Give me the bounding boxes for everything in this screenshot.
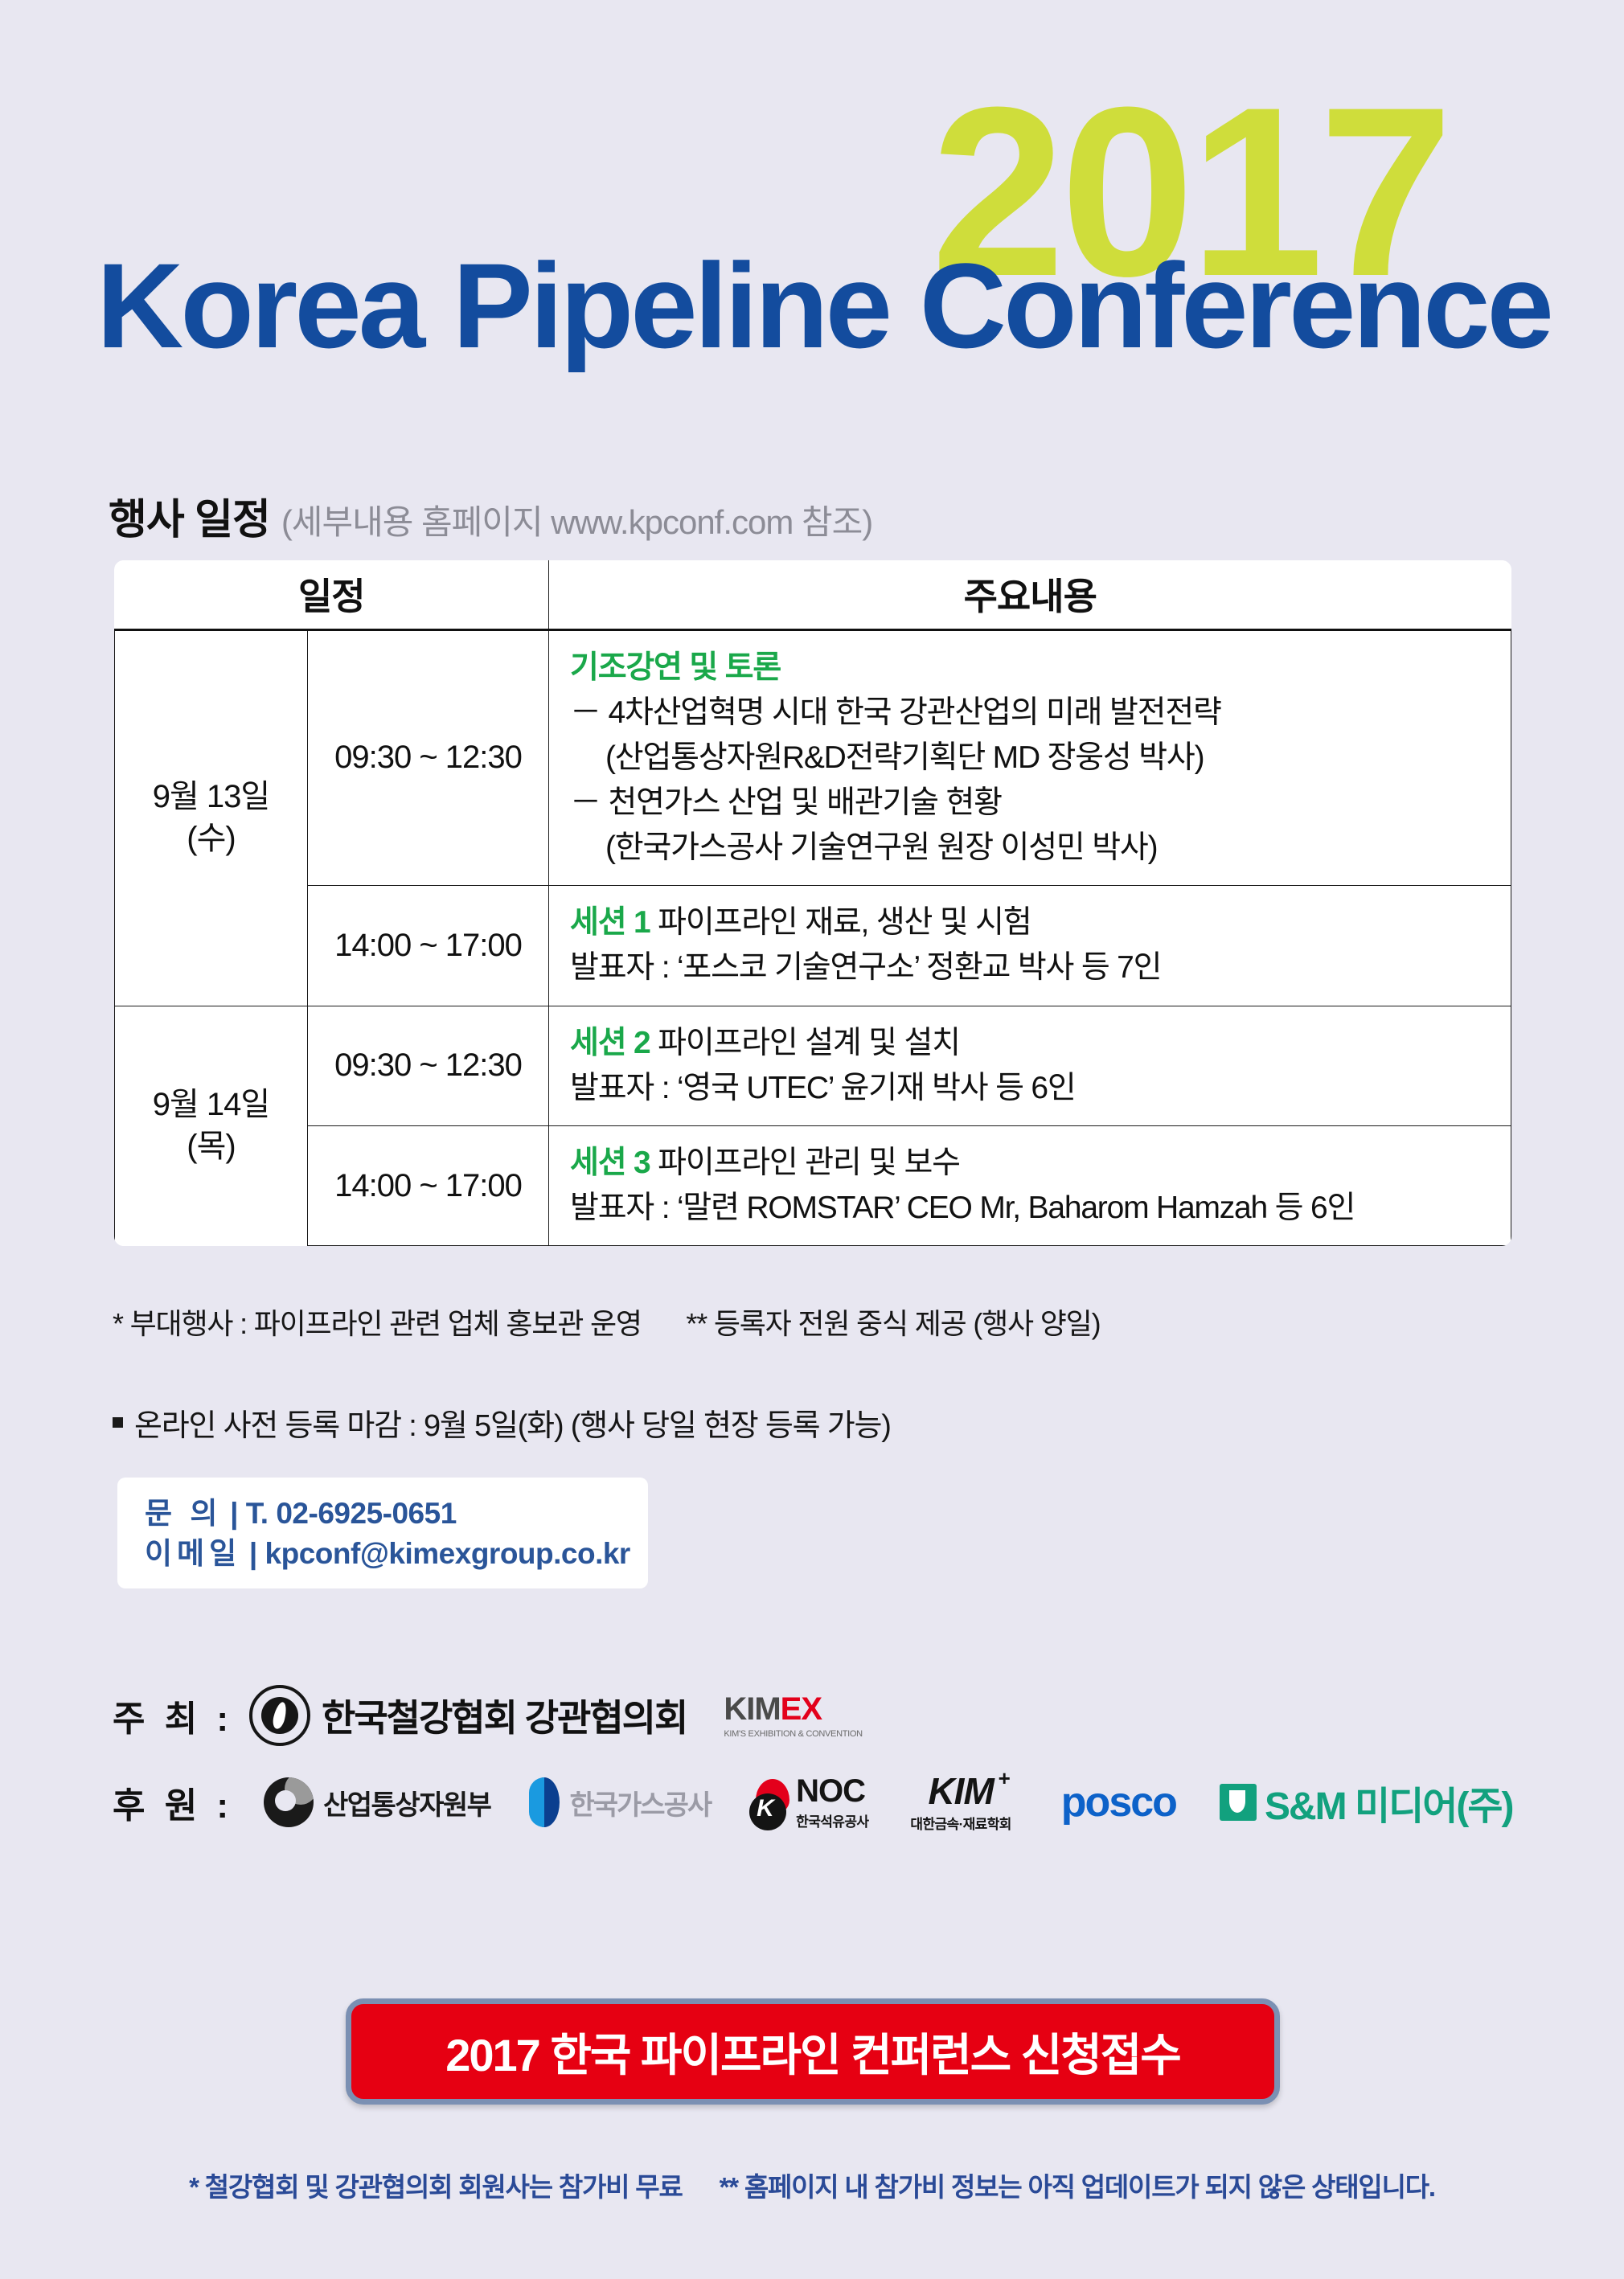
footer-note-1: * 철강협회 및 강관협의회 회원사는 참가비 무료	[189, 2172, 683, 2202]
session-3-presenter: 발표자 : ‘말련 ROMSTAR’ CEO Mr, Baharom Hamza…	[570, 1186, 1511, 1231]
keynote-label: 기조강연 및 토론	[570, 646, 1511, 691]
column-header-schedule: 일정	[115, 560, 549, 629]
contact-phone-value: T. 02-6925-0651	[246, 1497, 457, 1530]
footer-notes: * 철강협회 및 강관협의회 회원사는 참가비 무료 ** 홈페이지 내 참가비…	[0, 2166, 1624, 2204]
day-cell-14: 9월 14일 (목)	[115, 1006, 308, 1246]
host-name: 한국철강협회 강관협의회	[322, 1689, 687, 1742]
note-1: * 부대행사 : 파이프라인 관련 업체 홍보관 운영	[113, 1307, 642, 1340]
page-title: Korea Pipeline Conference	[96, 245, 1551, 366]
organizer-sponsor-block: 주 최 : 한국철강협회 강관협의회 KIMEX KIM'S EXHIBITIO…	[113, 1672, 1560, 1846]
contact-sep-1: |	[230, 1497, 238, 1530]
session-1-title: 파이프라인 재료, 생산 및 시험	[658, 905, 1031, 940]
snm-mark-icon	[1220, 1784, 1257, 1821]
schedule-heading-main: 행사 일정	[109, 486, 270, 546]
contact-sep-2: |	[249, 1537, 257, 1570]
kimex-kim: KIM	[724, 1691, 780, 1727]
kogas-mark-icon	[529, 1777, 560, 1827]
sponsor-line: 후 원 : 산업통상자원부 한국가스공사 K NOC 한국석유공사	[113, 1759, 1560, 1846]
session-2-line: 세션 2 파이프라인 설계 및 설치	[570, 1021, 1511, 1066]
column-header-content: 주요내용	[549, 560, 1511, 629]
note-2: ** 등록자 전원 중식 제공 (행사 양일)	[686, 1307, 1100, 1340]
ksa-logo: 한국철강협회 강관협의회	[249, 1685, 687, 1746]
table-header-row: 일정 주요내용	[115, 560, 1511, 629]
keynote-item-2-detail: (한국가스공사 기술연구원 원장 이성민 박사)	[570, 826, 1511, 871]
table-row: 9월 13일 (수) 09:30 ~ 12:30 기조강연 및 토론 － 4차산…	[115, 629, 1511, 886]
keynote-item-1: － 4차산업혁명 시대 한국 강관산업의 미래 발전전략	[570, 691, 1511, 736]
content-cell-3: 세션 2 파이프라인 설계 및 설치 발표자 : ‘영국 UTEC’ 윤기재 박…	[549, 1006, 1511, 1125]
content-cell-2: 세션 1 파이프라인 재료, 생산 및 시험 발표자 : ‘포스코 기술연구소’…	[549, 886, 1511, 1006]
day-weekday-14: (목)	[187, 1129, 235, 1164]
kimex-logo: KIMEX KIM'S EXHIBITION & CONVENTION	[724, 1693, 862, 1739]
snm-name: S&M 미디어(주)	[1265, 1774, 1513, 1830]
kim-logo: KIM+ 대한금속·재료학회	[910, 1773, 1011, 1833]
day-cell-13: 9월 13일 (수)	[115, 629, 308, 1006]
register-button-label: 2017 한국 파이프라인 컨퍼런스 신청접수	[445, 2019, 1180, 2084]
table-row: 9월 14일 (목) 09:30 ~ 12:30 세션 2 파이프라인 설계 및…	[115, 1006, 1511, 1125]
knoc-text: NOC 한국석유공사	[796, 1775, 868, 1830]
knoc-k-letter: K	[757, 1797, 774, 1821]
knoc-mark-icon: K	[749, 1779, 793, 1830]
time-cell-3: 09:30 ~ 12:30	[308, 1006, 549, 1125]
contact-phone-label: 문 의	[145, 1497, 222, 1530]
schedule-heading-sub: (세부내용 홈페이지 www.kpconf.com 참조)	[281, 495, 872, 544]
content-cell-4: 세션 3 파이프라인 관리 및 보수 발표자 : ‘말련 ROMSTAR’ CE…	[549, 1125, 1511, 1245]
contact-phone-line: 문 의 | T. 02-6925-0651	[145, 1494, 648, 1534]
schedule-table: 일정 주요내용 9월 13일 (수) 09:30 ~ 12:30 기조강연 및 …	[114, 560, 1511, 1246]
keynote-item-1-detail: (산업통상자원R&D전략기획단 MD 장웅성 박사)	[570, 736, 1511, 781]
kim-plus-icon: +	[999, 1768, 1010, 1789]
posco-logo: posco	[1061, 1781, 1176, 1823]
session-1-label: 세션 1	[570, 905, 650, 940]
sponsor-label: 후 원 :	[113, 1777, 249, 1828]
kim-subname: 대한금속·재료학회	[910, 1813, 1011, 1833]
schedule-heading: 행사 일정 (세부내용 홈페이지 www.kpconf.com 참조)	[109, 486, 872, 546]
kimex-ex: EX	[781, 1691, 822, 1727]
taegeuk-icon	[264, 1777, 314, 1827]
kimex-tagline: KIM'S EXHIBITION & CONVENTION	[724, 1729, 862, 1739]
session-2-label: 세션 2	[570, 1026, 650, 1060]
contact-email-label: 이메일	[145, 1537, 241, 1570]
kogas-logo: 한국가스공사	[529, 1777, 711, 1827]
square-bullet-icon	[113, 1417, 123, 1428]
motie-name: 산업통상자원부	[323, 1783, 490, 1822]
kogas-name: 한국가스공사	[569, 1783, 711, 1822]
footer-note-2: ** 홈페이지 내 참가비 정보는 아직 업데이트가 되지 않은 상태입니다.	[720, 2172, 1435, 2202]
schedule-table-wrapper: 일정 주요내용 9월 13일 (수) 09:30 ~ 12:30 기조강연 및 …	[114, 560, 1511, 1246]
poster-header: 2017 Korea Pipeline Conference	[0, 0, 1624, 434]
session-1-line: 세션 1 파이프라인 재료, 생산 및 시험	[570, 900, 1511, 945]
session-2-presenter: 발표자 : ‘영국 UTEC’ 윤기재 박사 등 6인	[570, 1066, 1511, 1111]
time-cell-2: 14:00 ~ 17:00	[308, 886, 549, 1006]
session-1-presenter: 발표자 : ‘포스코 기술연구소’ 정환교 박사 등 7인	[570, 945, 1511, 990]
poster-root: 2017 Korea Pipeline Conference 행사 일정 (세부…	[0, 0, 1624, 2279]
session-2-title: 파이프라인 설계 및 설치	[658, 1026, 960, 1060]
session-3-title: 파이프라인 관리 및 보수	[658, 1146, 960, 1180]
time-cell-1: 09:30 ~ 12:30	[308, 629, 549, 886]
register-button[interactable]: 2017 한국 파이프라인 컨퍼런스 신청접수	[346, 1998, 1280, 2105]
knoc-wordmark: NOC	[796, 1775, 868, 1807]
side-events-note: * 부대행사 : 파이프라인 관련 업체 홍보관 운영 ** 등록자 전원 중식…	[113, 1301, 1100, 1342]
day-date-14: 9월 14일	[153, 1087, 269, 1122]
session-3-line: 세션 3 파이프라인 관리 및 보수	[570, 1141, 1511, 1186]
knoc-subname: 한국석유공사	[796, 1810, 868, 1830]
registration-deadline-note: 온라인 사전 등록 마감 : 9월 5일(화) (행사 당일 현장 등록 가능)	[113, 1400, 891, 1445]
motie-logo: 산업통상자원부	[264, 1777, 490, 1827]
content-cell-1: 기조강연 및 토론 － 4차산업혁명 시대 한국 강관산업의 미래 발전전략 (…	[549, 629, 1511, 886]
time-cell-4: 14:00 ~ 17:00	[308, 1125, 549, 1245]
session-3-label: 세션 3	[570, 1146, 650, 1180]
knoc-logo: K NOC 한국석유공사	[749, 1775, 868, 1830]
contact-email-value[interactable]: kpconf@kimexgroup.co.kr	[265, 1537, 630, 1570]
contact-email-line: 이메일 | kpconf@kimexgroup.co.kr	[145, 1534, 648, 1574]
table-row: 14:00 ~ 17:00 세션 3 파이프라인 관리 및 보수 발표자 : ‘…	[115, 1125, 1511, 1245]
contact-box: 문 의 | T. 02-6925-0651 이메일 | kpconf@kimex…	[117, 1478, 648, 1588]
day-weekday-13: (수)	[187, 821, 235, 856]
steel-seal-icon	[249, 1685, 310, 1746]
keynote-item-2: － 천연가스 산업 및 배관기술 현황	[570, 781, 1511, 826]
host-label: 주 최 :	[113, 1690, 249, 1741]
registration-deadline-text: 온라인 사전 등록 마감 : 9월 5일(화) (행사 당일 현장 등록 가능)	[134, 1400, 891, 1445]
day-date-13: 9월 13일	[153, 779, 269, 814]
kim-letters: KIM	[928, 1770, 993, 1812]
table-row: 14:00 ~ 17:00 세션 1 파이프라인 재료, 생산 및 시험 발표자…	[115, 886, 1511, 1006]
kim-wordmark: KIM+	[928, 1773, 993, 1810]
snm-logo: S&M 미디어(주)	[1220, 1774, 1513, 1830]
kimex-wordmark: KIMEX	[724, 1693, 822, 1725]
host-line: 주 최 : 한국철강협회 강관협의회 KIMEX KIM'S EXHIBITIO…	[113, 1672, 1560, 1759]
